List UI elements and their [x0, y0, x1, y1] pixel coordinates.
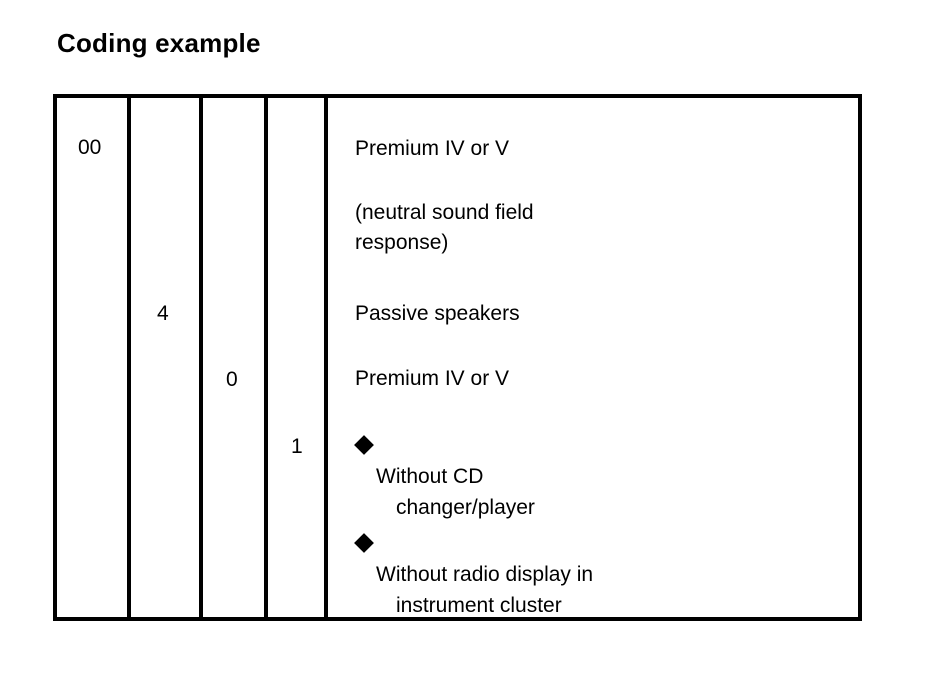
code-cell-byte-2: 0	[226, 367, 238, 393]
diamond-bullet-icon	[354, 533, 374, 553]
description-neutral-sound-field: (neutral sound field response)	[355, 198, 534, 258]
diamond-bullet-icon	[354, 435, 374, 455]
description-without-radio-line-2: instrument cluster	[376, 590, 775, 621]
code-cell-byte-0: 00	[78, 135, 101, 161]
column-divider-1	[127, 94, 131, 621]
description-premium-1: Premium IV or V	[355, 134, 509, 164]
coding-example-table: 00 4 0 1 Premium IV or V (neutral sound …	[53, 94, 862, 621]
description-without-radio-display: Without radio display in instrument clus…	[355, 528, 775, 652]
description-passive-speakers: Passive speakers	[355, 299, 520, 329]
description-premium-2: Premium IV or V	[355, 364, 509, 394]
code-cell-byte-3: 1	[291, 434, 303, 460]
column-divider-4	[324, 94, 328, 621]
description-without-cd-line-1: Without CD	[376, 465, 483, 488]
description-without-cd-line-2: changer/player	[376, 492, 685, 523]
column-divider-3	[264, 94, 268, 621]
description-without-radio-display-text: Without radio display in instrument clus…	[375, 528, 775, 652]
description-without-radio-line-1: Without radio display in	[376, 563, 593, 586]
column-divider-2	[199, 94, 203, 621]
description-column: Premium IV or V (neutral sound field res…	[355, 98, 858, 617]
page-title: Coding example	[57, 27, 261, 59]
code-cell-byte-1: 4	[157, 301, 169, 327]
